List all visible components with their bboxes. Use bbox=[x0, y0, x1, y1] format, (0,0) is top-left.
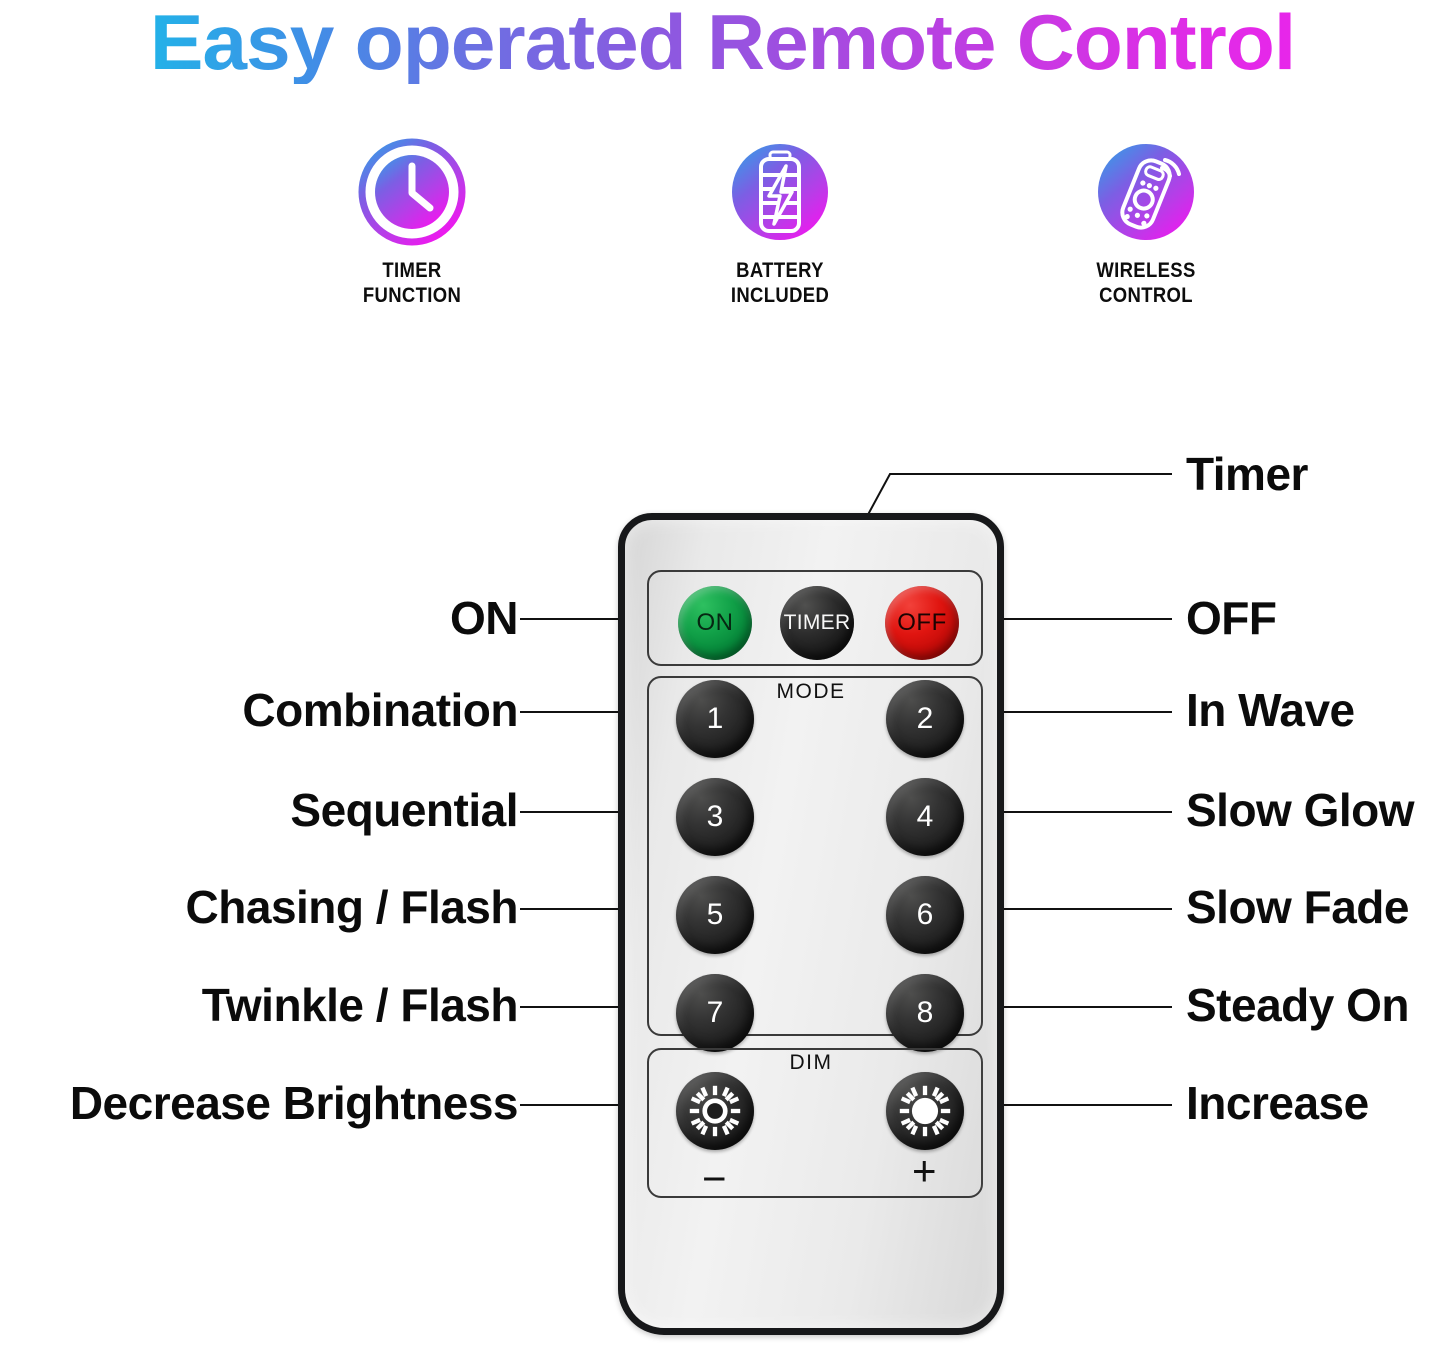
dim-plus-symbol: + bbox=[912, 1150, 937, 1192]
feature-label: BATTERY INCLUDED bbox=[674, 258, 885, 308]
callout-combination: Combination bbox=[242, 684, 518, 736]
feature-wireless-control: WIRELESS CONTROL bbox=[1026, 138, 1266, 308]
feature-timer-function: TIMER FUNCTION bbox=[292, 138, 532, 308]
feature-label: TIMER FUNCTION bbox=[306, 258, 517, 308]
feature-battery-included: BATTERY INCLUDED bbox=[660, 138, 900, 308]
timer-button[interactable]: TIMER bbox=[780, 586, 854, 660]
remote-control-device: ON TIMER OFF MODE 1 2 3 4 5 6 7 8 DIM bbox=[618, 513, 1004, 1335]
mode-button-label: 7 bbox=[707, 996, 724, 1030]
callout-chasing-flash: Chasing / Flash bbox=[186, 881, 518, 933]
brightness-increase-icon bbox=[897, 1083, 953, 1139]
mode-button-label: 3 bbox=[707, 800, 724, 834]
mode-button-label: 5 bbox=[707, 898, 724, 932]
brightness-decrease-icon bbox=[687, 1083, 743, 1139]
timer-button-label: TIMER bbox=[784, 611, 851, 635]
callout-sequential: Sequential bbox=[290, 784, 518, 836]
mode-button-label: 8 bbox=[917, 996, 934, 1030]
dim-section-label: DIM bbox=[625, 1051, 997, 1075]
callout-increase: Increase bbox=[1186, 1077, 1369, 1129]
mode-button-6[interactable]: 6 bbox=[886, 876, 964, 954]
callout-in-wave: In Wave bbox=[1186, 684, 1355, 736]
mode-button-label: 4 bbox=[917, 800, 934, 834]
callout-decrease-brightness: Decrease Brightness bbox=[70, 1077, 518, 1129]
callout-twinkle-flash: Twinkle / Flash bbox=[202, 979, 518, 1031]
clock-icon bbox=[358, 138, 466, 246]
callout-timer: Timer bbox=[1186, 448, 1308, 500]
dim-minus-symbol: − bbox=[702, 1158, 727, 1200]
mode-button-7[interactable]: 7 bbox=[676, 974, 754, 1052]
battery-icon bbox=[726, 138, 834, 246]
brightness-increase-button[interactable] bbox=[886, 1072, 964, 1150]
page-title: Easy operated Remote Control bbox=[0, 0, 1445, 84]
mode-button-label: 6 bbox=[917, 898, 934, 932]
feature-label: WIRELESS CONTROL bbox=[1040, 258, 1251, 308]
mode-button-5[interactable]: 5 bbox=[676, 876, 754, 954]
callout-slow-glow: Slow Glow bbox=[1186, 784, 1414, 836]
off-button-label: OFF bbox=[897, 609, 947, 637]
mode-button-label: 1 bbox=[707, 702, 724, 736]
mode-button-8[interactable]: 8 bbox=[886, 974, 964, 1052]
off-button[interactable]: OFF bbox=[885, 586, 959, 660]
on-button-label: ON bbox=[697, 609, 734, 637]
callout-slow-fade: Slow Fade bbox=[1186, 881, 1409, 933]
brightness-decrease-button[interactable] bbox=[676, 1072, 754, 1150]
remote-icon bbox=[1092, 138, 1200, 246]
mode-button-3[interactable]: 3 bbox=[676, 778, 754, 856]
mode-button-4[interactable]: 4 bbox=[886, 778, 964, 856]
on-button[interactable]: ON bbox=[678, 586, 752, 660]
mode-button-2[interactable]: 2 bbox=[886, 680, 964, 758]
mode-button-label: 2 bbox=[917, 702, 934, 736]
callout-steady-on: Steady On bbox=[1186, 979, 1409, 1031]
callout-on: ON bbox=[450, 592, 518, 644]
mode-button-1[interactable]: 1 bbox=[676, 680, 754, 758]
callout-off: OFF bbox=[1186, 592, 1276, 644]
